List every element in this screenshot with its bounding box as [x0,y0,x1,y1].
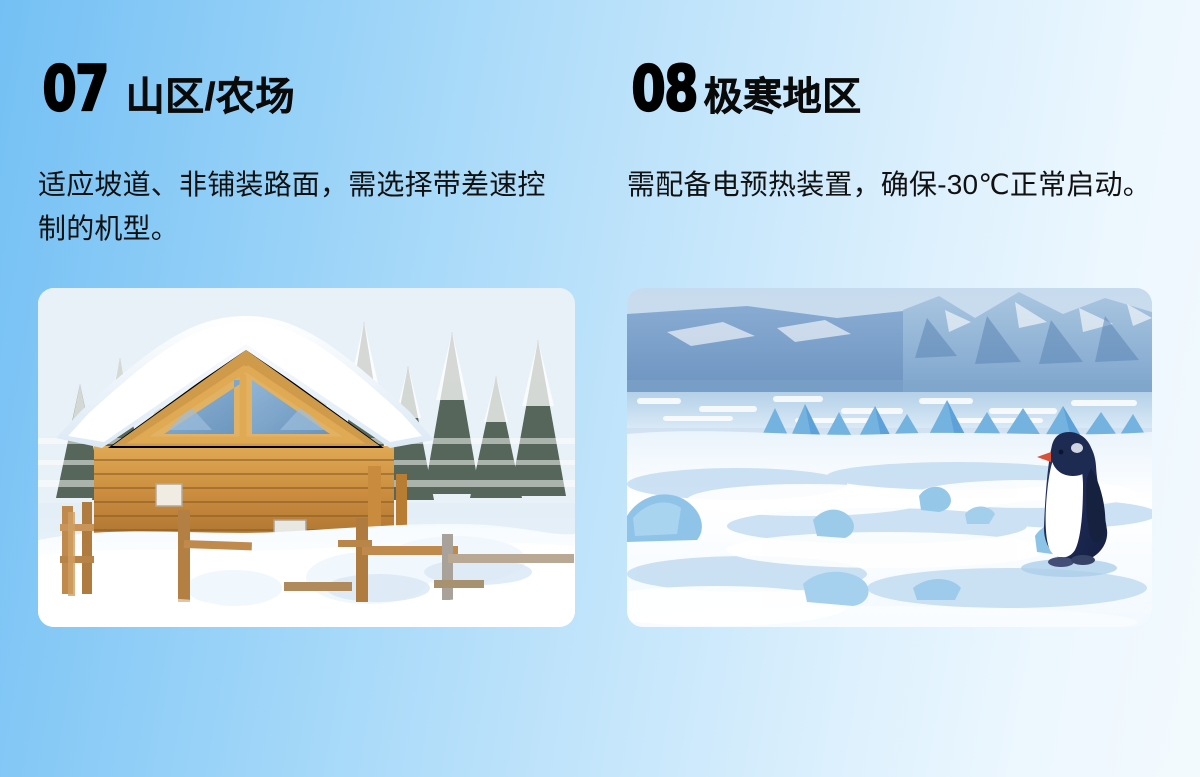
sea-ice-band [627,392,1152,428]
card-heading: 07 山区/农场 [38,58,295,120]
card-08: 08 极寒地区 需配备电预热装置，确保-30℃正常启动。 [600,0,1200,777]
card-07: 07 山区/农场 适应坡道、非铺装路面，需选择带差速控制的机型。 [0,0,600,777]
two-column-layout: 07 山区/农场 适应坡道、非铺装路面，需选择带差速控制的机型。 [0,0,1200,777]
card-description: 需配备电预热装置，确保-30℃正常启动。 [627,163,1152,207]
card-description: 适应坡道、非铺装路面，需选择带差速控制的机型。 [38,163,573,251]
card-number: 08 [631,58,697,120]
antarctic-ice-photo [627,288,1152,627]
snow-cabin-photo [38,288,575,627]
card-number: 07 [42,58,108,120]
page-root: 07 山区/农场 适应坡道、非铺装路面，需选择带差速控制的机型。 [0,0,1200,777]
card-title: 极寒地区 [704,78,862,117]
card-heading: 08 极寒地区 [627,58,862,120]
card-title: 山区/农场 [126,78,295,117]
